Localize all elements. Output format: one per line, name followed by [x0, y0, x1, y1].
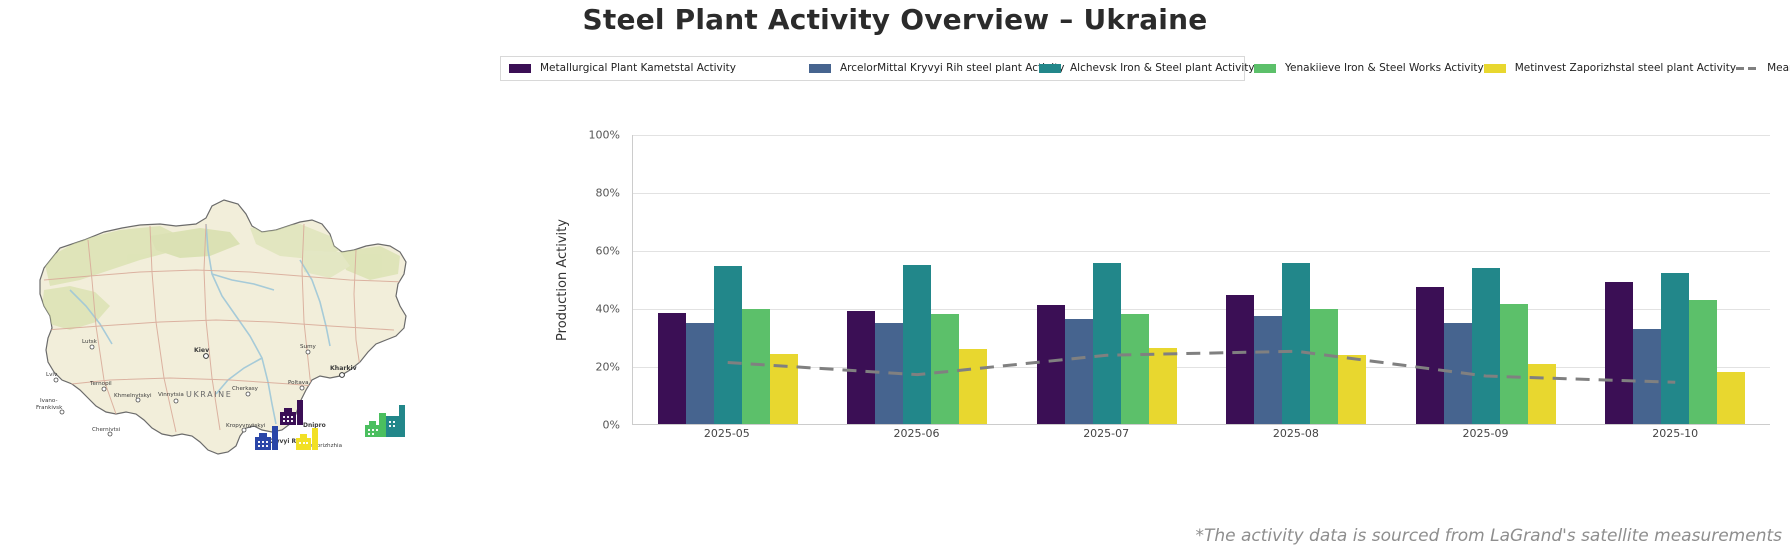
plant-marker-yenakiieve[interactable] [365, 413, 386, 437]
x-tick-label: 2025-05 [632, 427, 822, 440]
activity-bar-chart: Production Activity 0%20%40%60%80%100% 2… [560, 135, 1770, 455]
mean-line-path [728, 351, 1676, 382]
svg-text:Khmelnytskyi: Khmelnytskyi [114, 393, 152, 399]
legend-swatch-alchevsk [1039, 64, 1061, 73]
svg-text:Sumy: Sumy [300, 344, 317, 350]
legend-label-arcelormittal: ArcelorMittal Kryvyi Rih steel plant Act… [840, 61, 1065, 76]
chart-legend: Metallurgical Plant Kametstal Activity A… [500, 56, 1245, 81]
legend-swatch-zaporizhstal [1484, 64, 1506, 73]
x-tick-label: 2025-08 [1201, 427, 1391, 440]
legend-item-yenakiieve[interactable]: Yenakiieve Iron & Steel Works Activity [1254, 61, 1484, 76]
svg-text:Ternopil: Ternopil [89, 381, 112, 387]
mean-activity-line [633, 135, 1770, 465]
legend-label-yenakiieve: Yenakiieve Iron & Steel Works Activity [1285, 61, 1484, 76]
legend-swatch-arcelormittal [809, 64, 831, 73]
y-tick-label: 20% [596, 361, 620, 374]
svg-text:Lviv: Lviv [46, 372, 58, 378]
plant-marker-zaporizhstal[interactable] [296, 428, 318, 450]
legend-item-mean[interactable]: Mean Steelplant Activity in Ukraine [1736, 61, 1790, 76]
map-landmass [40, 200, 406, 454]
plot-area [632, 135, 1770, 425]
page-title: Steel Plant Activity Overview – Ukraine [0, 0, 1790, 36]
svg-text:Cherkasy: Cherkasy [232, 386, 259, 392]
svg-text:Zaporizhzhia: Zaporizhzhia [306, 443, 342, 449]
ukraine-map-svg: Lutsk Lviv Ternopil Ivano- Frankivsk Khm… [0, 140, 440, 460]
svg-text:UKRAINE: UKRAINE [186, 390, 232, 399]
y-axis-label: Production Activity [556, 135, 570, 425]
y-tick-label: 0% [603, 419, 620, 432]
y-tick-label: 40% [596, 303, 620, 316]
plant-marker-alchevsk[interactable] [386, 405, 405, 437]
legend-item-alchevsk[interactable]: Alchevsk Iron & Steel plant Activity [1039, 61, 1254, 76]
x-tick-label: 2025-10 [1580, 427, 1770, 440]
legend-dashed-line-icon [1736, 64, 1758, 73]
legend-label-zaporizhstal: Metinvest Zaporizhstal steel plant Activ… [1515, 61, 1736, 76]
svg-text:Poltava: Poltava [288, 380, 309, 386]
legend-label-alchevsk: Alchevsk Iron & Steel plant Activity [1070, 61, 1255, 76]
y-axis-ticks: 0%20%40%60%80%100% [572, 135, 626, 425]
x-tick-label: 2025-09 [1391, 427, 1581, 440]
data-source-footnote: *The activity data is sourced from LaGra… [1195, 526, 1782, 546]
legend-swatch-yenakiieve [1254, 64, 1276, 73]
legend-label-mean: Mean Steelplant Activity in Ukraine [1767, 61, 1790, 76]
ukraine-map[interactable]: Lutsk Lviv Ternopil Ivano- Frankivsk Khm… [0, 140, 440, 460]
y-tick-label: 80% [596, 187, 620, 200]
svg-text:Ivano-: Ivano- [40, 398, 57, 404]
legend-item-arcelormittal[interactable]: ArcelorMittal Kryvyi Rih steel plant Act… [809, 61, 1039, 76]
y-tick-label: 100% [589, 129, 620, 142]
svg-text:Lutsk: Lutsk [82, 339, 98, 345]
x-tick-label: 2025-06 [822, 427, 1012, 440]
x-tick-label: 2025-07 [1011, 427, 1201, 440]
legend-swatch-kametstal [509, 64, 531, 73]
svg-text:Chernivtsi: Chernivtsi [92, 427, 121, 433]
legend-item-kametstal[interactable]: Metallurgical Plant Kametstal Activity [509, 61, 809, 76]
y-tick-label: 60% [596, 245, 620, 258]
x-axis-labels: 2025-052025-062025-072025-082025-092025-… [632, 427, 1770, 440]
svg-text:Frankivsk: Frankivsk [36, 405, 63, 411]
legend-label-kametstal: Metallurgical Plant Kametstal Activity [540, 61, 736, 76]
svg-text:Vinnytsia: Vinnytsia [158, 392, 184, 398]
legend-item-zaporizhstal[interactable]: Metinvest Zaporizhstal steel plant Activ… [1484, 61, 1736, 76]
svg-text:Kropyvnytskyi: Kropyvnytskyi [226, 423, 266, 429]
svg-text:Kiev: Kiev [194, 347, 209, 354]
svg-text:Dnipro: Dnipro [303, 422, 326, 429]
svg-text:Kharkiv: Kharkiv [330, 365, 357, 372]
